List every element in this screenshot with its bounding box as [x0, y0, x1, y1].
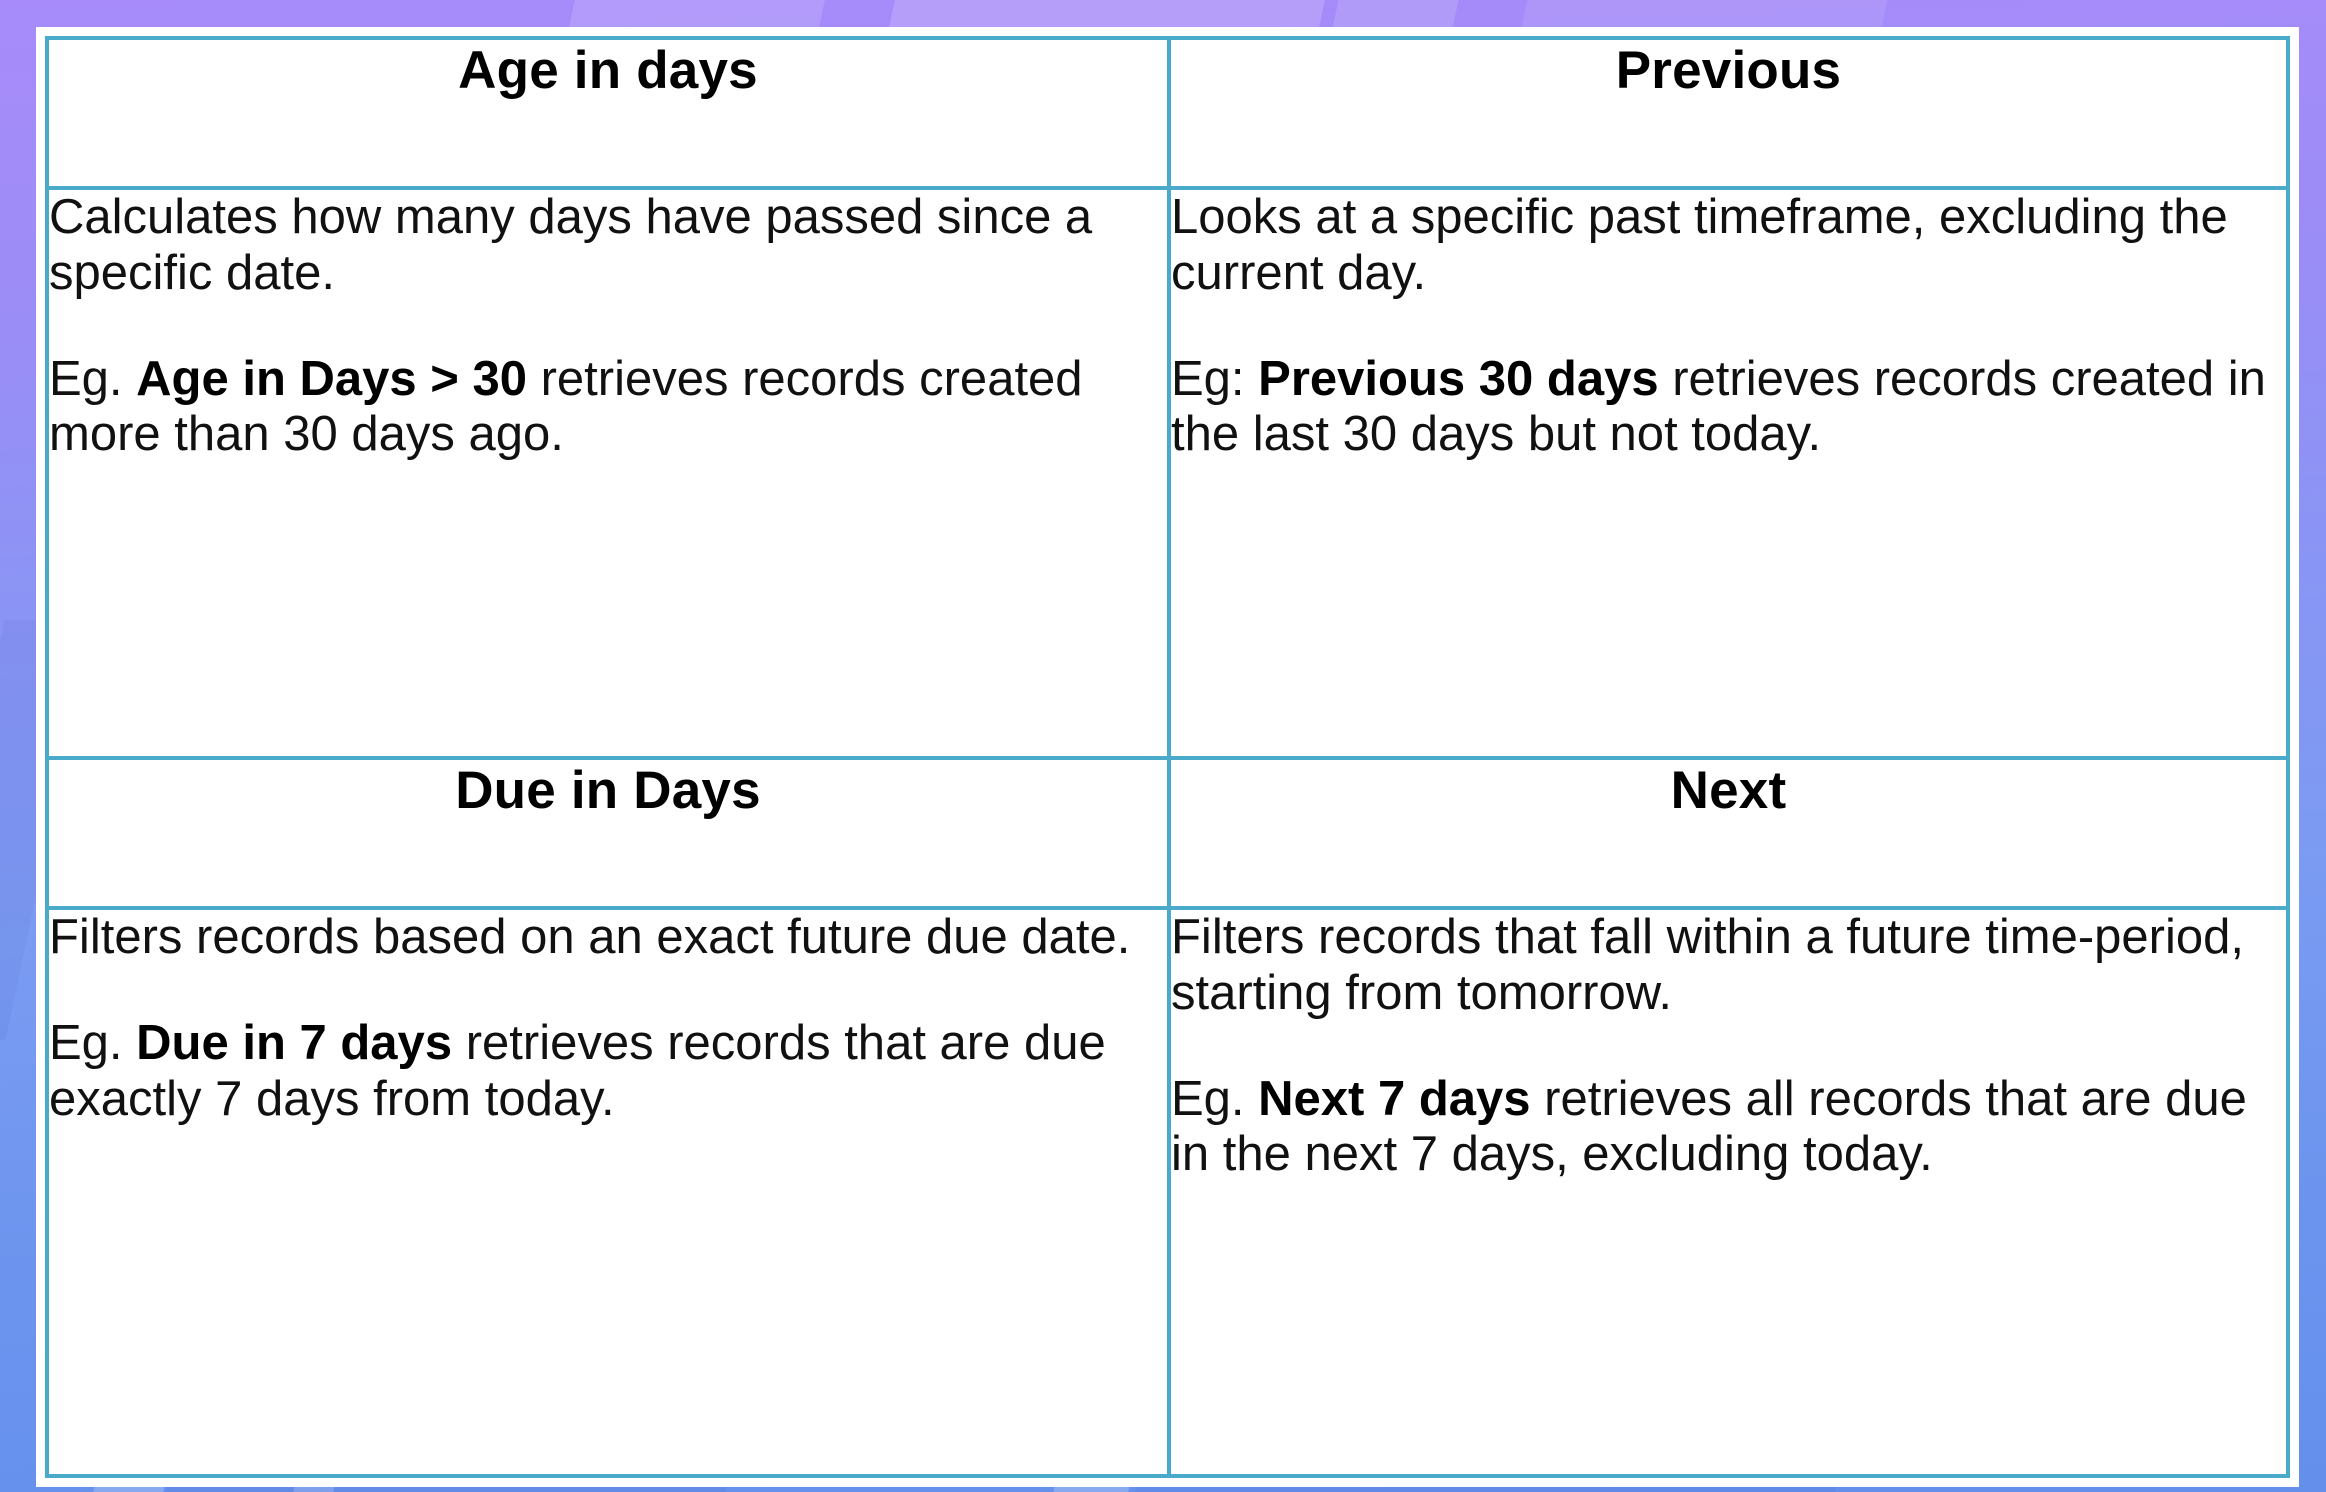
cell-age-in-days: Calculates how many days have passed sin… [47, 188, 1169, 758]
body-text: Filters records that fall within a futur… [1171, 910, 2244, 1020]
emphasis-text: Due in 7 days [136, 1016, 452, 1070]
body-text: Eg: [1171, 352, 1258, 406]
header-due-in-days: Due in Days [47, 758, 1169, 908]
table-body: Age in days Previous Calculates how many… [47, 38, 2288, 1476]
table-row: Due in Days Next [47, 758, 2288, 908]
body-text: Eg. [49, 352, 136, 406]
body-text: Eg. [1171, 1072, 1258, 1126]
cell-previous: Looks at a specific past timeframe, excl… [1169, 188, 2288, 758]
header-previous: Previous [1169, 38, 2288, 188]
emphasis-text: Next 7 days [1258, 1072, 1530, 1126]
cell-due-in-days: Filters records based on an exact future… [47, 908, 1169, 1476]
date-filter-comparison-table: Age in days Previous Calculates how many… [45, 36, 2290, 1478]
emphasis-text: Age in Days > 30 [136, 352, 527, 406]
body-text: Filters records based on an exact future… [49, 910, 1130, 964]
cell-paragraph-example: Eg. Age in Days > 30 retrieves records c… [49, 352, 1167, 463]
emphasis-text: Previous 30 days [1258, 352, 1658, 406]
header-age-in-days: Age in days [47, 38, 1169, 188]
cell-next: Filters records that fall within a futur… [1169, 908, 2288, 1476]
body-text: Calculates how many days have passed sin… [49, 190, 1092, 300]
cell-paragraph: Filters records based on an exact future… [49, 910, 1167, 966]
slide-canvas: Age in days Previous Calculates how many… [0, 0, 2326, 1492]
table-row: Calculates how many days have passed sin… [47, 188, 2288, 758]
header-next: Next [1169, 758, 2288, 908]
cell-paragraph-example: Eg. Next 7 days retrieves all records th… [1171, 1072, 2286, 1183]
cell-paragraph-example: Eg. Due in 7 days retrieves records that… [49, 1016, 1167, 1127]
body-text: Looks at a specific past timeframe, excl… [1171, 190, 2228, 300]
table-row: Age in days Previous [47, 38, 2288, 188]
body-text: Eg. [49, 1016, 136, 1070]
cell-paragraph: Looks at a specific past timeframe, excl… [1171, 190, 2286, 301]
cell-paragraph: Calculates how many days have passed sin… [49, 190, 1167, 301]
cell-paragraph: Filters records that fall within a futur… [1171, 910, 2286, 1021]
cell-paragraph-example: Eg: Previous 30 days retrieves records c… [1171, 352, 2286, 463]
table-row: Filters records based on an exact future… [47, 908, 2288, 1476]
